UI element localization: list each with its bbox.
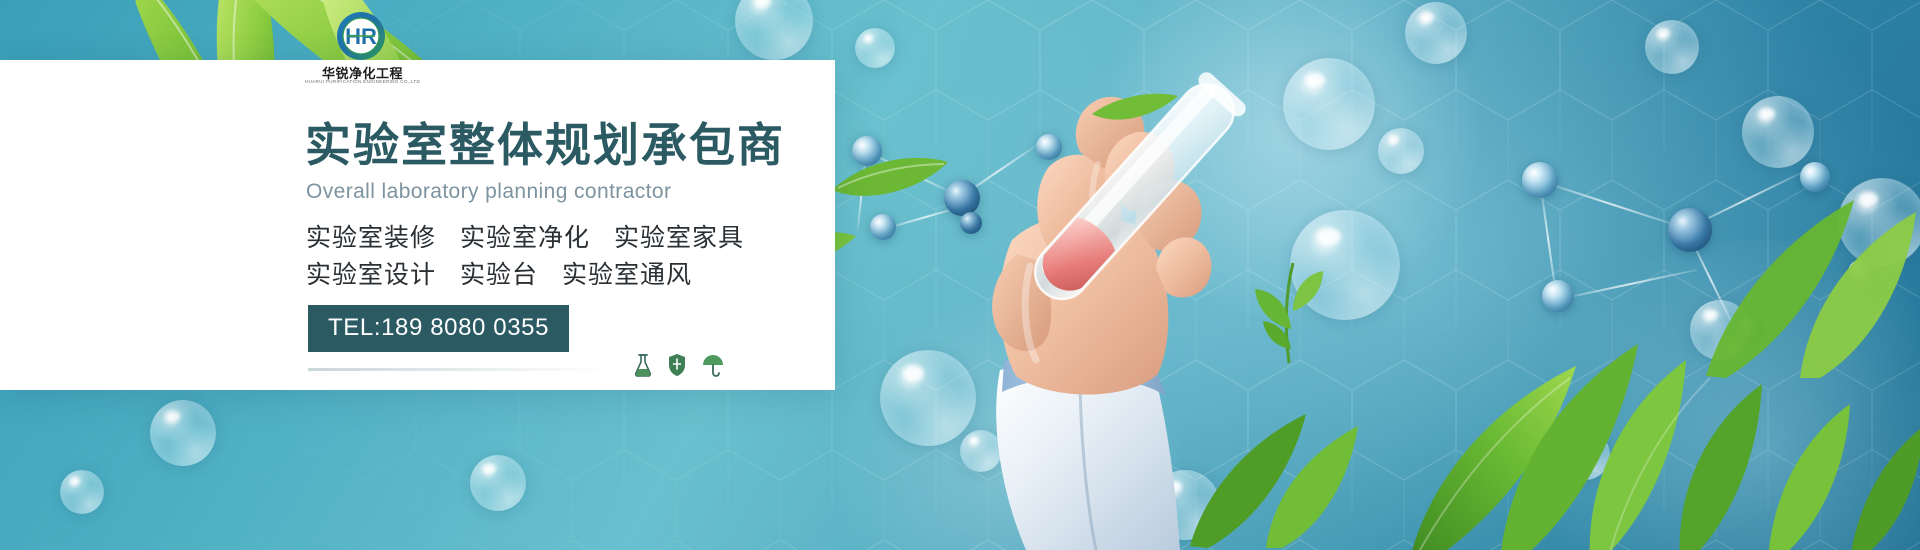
service-item: 实验室通风 [562,260,692,289]
decorative-leaf [1186,400,1366,550]
divider [308,368,608,371]
hero-banner: HR 华锐净化工程 HUARUI PURIFICATION ENGINEERIN… [0,0,1920,550]
glass-bubble [1645,20,1699,74]
service-item: 实验室设计 [306,260,436,289]
brand-name-en: HUARUI PURIFICATION ENGINEERING CO.,LTD [304,79,421,84]
glass-bubble [470,455,526,511]
feature-icon-row [634,353,724,377]
service-list-line-1: 实验室装修实验室净化实验室家具 [306,218,744,254]
decorative-leaf [1700,180,1920,380]
glass-bubble [855,28,895,68]
flask-icon [634,353,652,377]
glass-bubble [1405,2,1467,64]
service-item: 实验室家具 [614,223,744,252]
service-item: 实验室净化 [460,223,590,252]
glass-bubble [60,470,104,514]
glass-bubble [1742,96,1814,168]
umbrella-icon [702,353,724,377]
brand-logo: HR 华锐净化工程 HUARUI PURIFICATION ENGINEERIN… [305,10,420,90]
service-item: 实验室装修 [306,223,436,252]
shield-icon [668,353,686,377]
glass-bubble [150,400,216,466]
decorative-leaf [1245,255,1335,365]
page-subtitle: Overall laboratory planning contractor [306,180,671,204]
telephone-button[interactable]: TEL:189 8080 0355 [308,305,569,352]
service-list-line-2: 实验室设计实验台实验室通风 [306,255,692,291]
hr-monogram-circle-logo: HR [335,10,387,62]
decorative-leaf [830,150,950,210]
page-title: 实验室整体规划承包商 [305,122,785,168]
decorative-leaf [1090,90,1180,130]
glass-bubble [1378,128,1424,174]
service-item: 实验台 [460,260,538,289]
